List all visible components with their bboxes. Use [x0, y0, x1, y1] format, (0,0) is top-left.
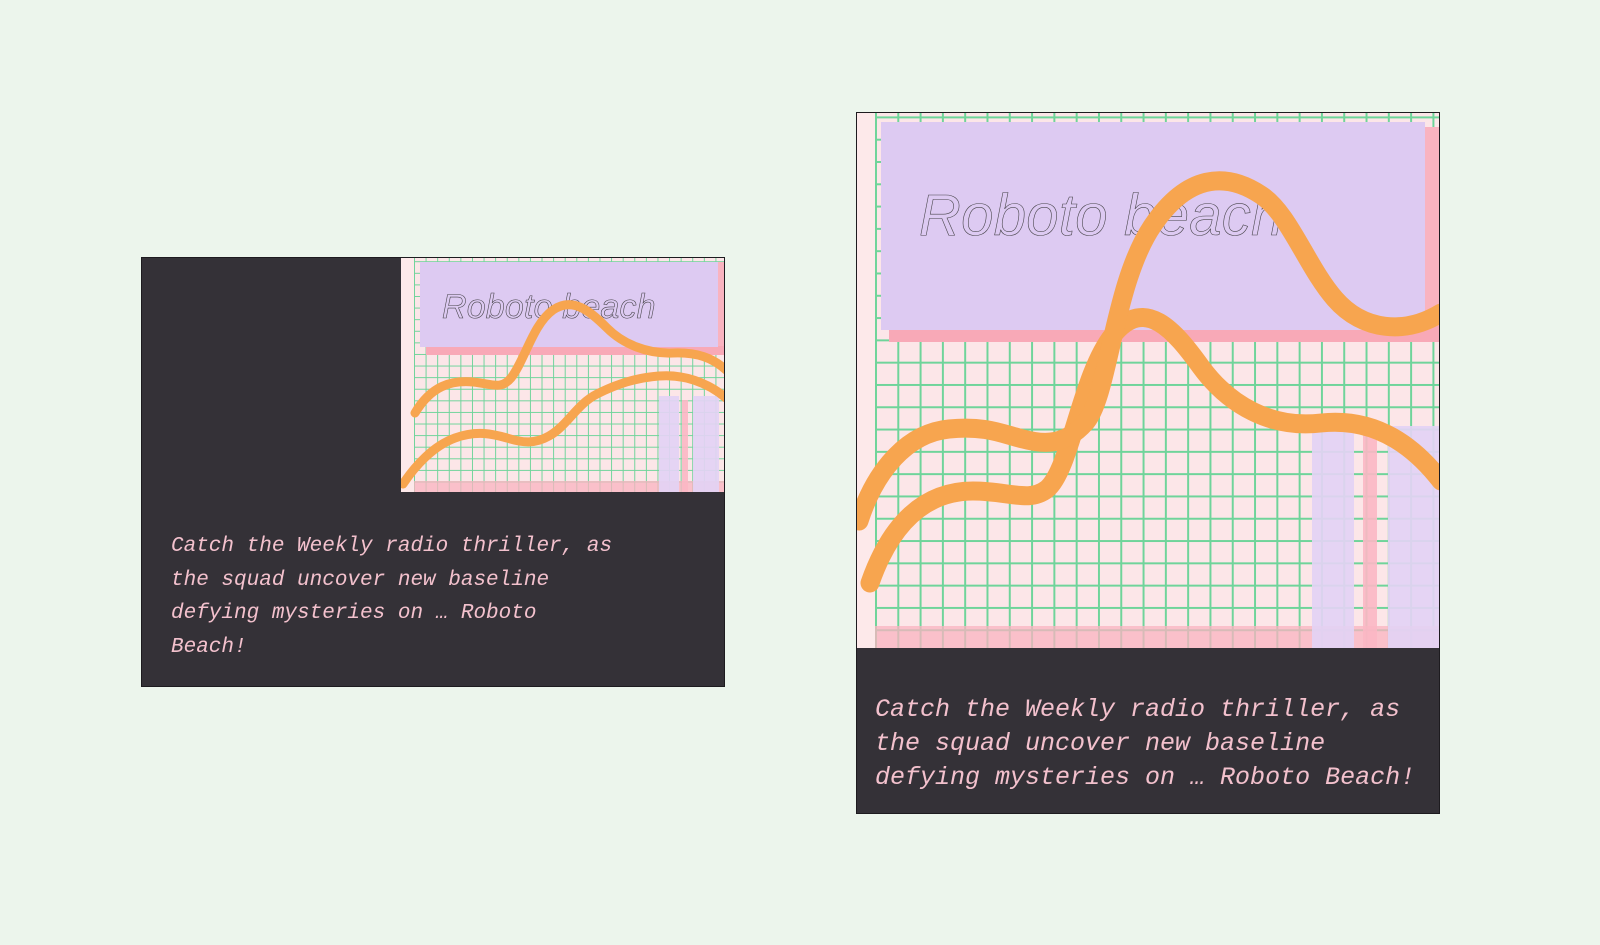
upper-curve [415, 305, 725, 413]
chart-panel: Roboto beach [857, 113, 1440, 648]
promo-card-small[interactable]: Roboto beach Catch the Weekly radio thri… [141, 257, 725, 687]
curve-overlay [857, 113, 1440, 648]
card-body-text: Catch the Weekly radio thriller, as the … [875, 693, 1427, 795]
chart-panel: Roboto beach [401, 258, 725, 492]
curve-overlay [401, 258, 725, 492]
lower-curve [403, 376, 725, 484]
lower-curve [859, 181, 1440, 521]
upper-curve [870, 317, 1440, 583]
canvas: Roboto beach Catch the Weekly radio thri… [0, 0, 1600, 945]
card-body-text: Catch the Weekly radio thriller, as the … [171, 530, 619, 664]
promo-card-large[interactable]: Roboto beach Catch the Weekly radio thri… [856, 112, 1440, 814]
